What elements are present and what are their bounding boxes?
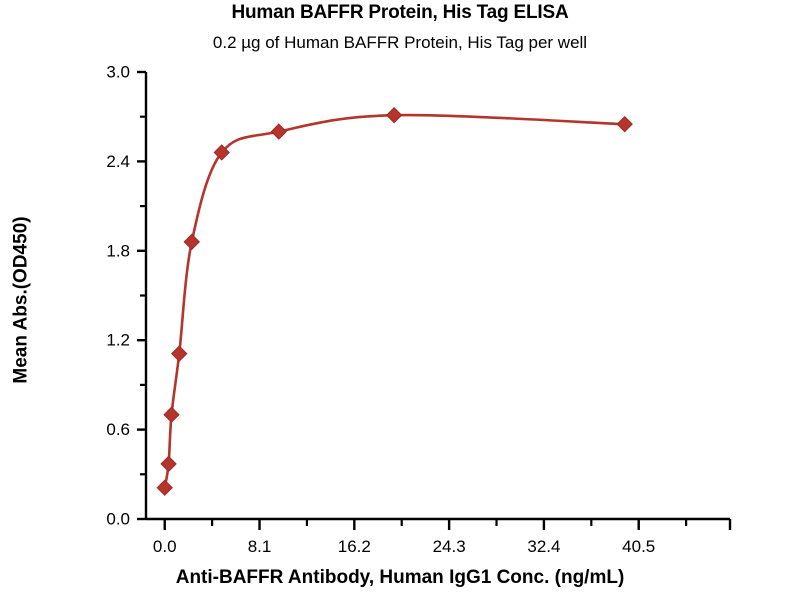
data-point-marker	[271, 124, 286, 139]
x-axis-tick-label: 40.5	[622, 537, 655, 556]
x-axis-tick-label: 8.1	[248, 537, 272, 556]
x-axis-tick-label: 32.4	[527, 537, 560, 556]
y-axis-tick-label: 1.8	[106, 241, 130, 260]
x-axis-tick-label: 24.3	[433, 537, 466, 556]
y-axis-tick-label: 3.0	[106, 62, 130, 81]
plot-area: 0.00.61.21.82.43.0 0.08.116.224.332.440.…	[0, 0, 800, 600]
x-axis-tick-label: 16.2	[338, 537, 371, 556]
x-axis-ticks-group: 0.08.116.224.332.440.5	[153, 519, 730, 556]
y-axis-tick-label: 1.2	[106, 331, 130, 350]
data-point-marker	[164, 407, 179, 422]
y-axis-tick-label: 0.0	[106, 509, 130, 528]
series-line	[165, 115, 625, 488]
data-point-marker	[184, 234, 199, 249]
y-axis-tick-label: 0.6	[106, 420, 130, 439]
data-point-marker	[387, 108, 402, 123]
y-axis-ticks-group: 0.00.61.21.82.43.0	[106, 62, 146, 528]
data-point-marker	[617, 117, 632, 132]
data-series-group	[157, 108, 632, 496]
x-axis-tick-label: 0.0	[153, 537, 177, 556]
data-point-marker	[157, 480, 172, 495]
chart-figure: Human BAFFR Protein, His Tag ELISA 0.2 µ…	[0, 0, 800, 600]
y-axis-tick-label: 2.4	[106, 152, 130, 171]
data-point-marker	[172, 346, 187, 361]
axis-spines-group	[146, 72, 730, 519]
data-point-marker	[161, 456, 176, 471]
